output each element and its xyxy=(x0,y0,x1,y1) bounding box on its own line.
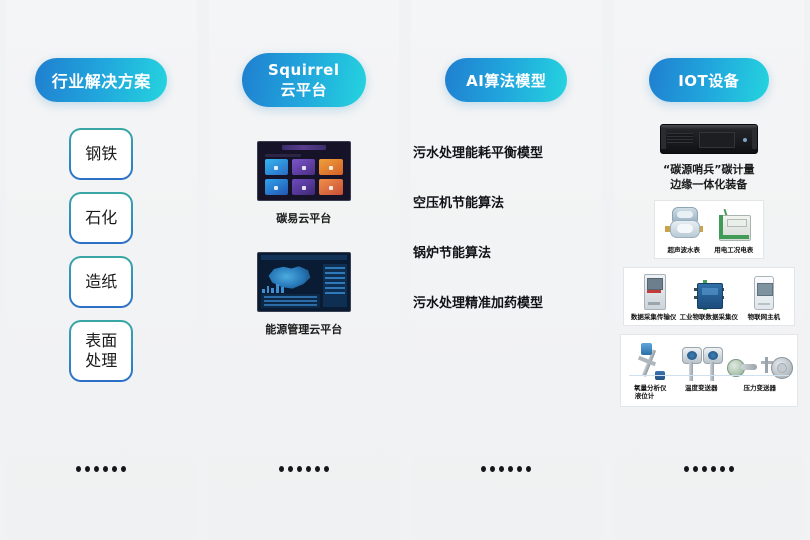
more-dots-ai xyxy=(481,466,531,472)
industry-card-label: 钢铁 xyxy=(85,144,117,164)
header-pill-label-line1: Squirrel xyxy=(268,60,339,80)
industry-card-papermaking[interactable]: 造纸 xyxy=(69,256,133,308)
dot xyxy=(315,466,320,472)
column-ai-algorithms: AI算法模型 污水处理能耗平衡模型 空压机节能算法 锅炉节能算法 污水处理精准加… xyxy=(405,0,608,540)
iot-device-pressure-transmitter[interactable]: 压力变送器 xyxy=(727,355,793,392)
screen-tile xyxy=(292,159,315,175)
iot-device-label-level-gauge: 液位计 xyxy=(635,390,655,400)
column-iot-devices: IOT设备 “碳源哨兵”碳计量 边缘一体化装备 xyxy=(608,0,810,540)
ai-model-list: 污水处理能耗平衡模型 空压机节能算法 锅炉节能算法 污水处理精准加药模型 xyxy=(405,142,608,311)
edge-server-caption: “碳源哨兵”碳计量 边缘一体化装备 xyxy=(663,162,754,192)
dot xyxy=(103,466,108,472)
dot xyxy=(490,466,495,472)
dot xyxy=(499,466,504,472)
dot xyxy=(279,466,284,472)
dot xyxy=(324,466,329,472)
iot-device-label: 物联网主机 xyxy=(748,313,781,321)
screen-tile xyxy=(292,179,315,195)
header-pill-ai-algorithms[interactable]: AI算法模型 xyxy=(445,58,567,102)
edge-server-caption-line2: 边缘一体化装备 xyxy=(663,177,754,192)
screen-bar-chart xyxy=(262,283,284,293)
dot xyxy=(711,466,716,472)
ai-model-item[interactable]: 锅炉节能算法 xyxy=(413,242,491,261)
screen-header-bar xyxy=(261,255,347,260)
ai-model-item[interactable]: 污水处理精准加药模型 xyxy=(413,292,543,311)
header-pill-label: IOT设备 xyxy=(678,70,739,91)
dot xyxy=(702,466,707,472)
dot xyxy=(517,466,522,472)
dot xyxy=(729,466,734,472)
iot-device-label: 温度变送器 xyxy=(685,384,718,392)
iot-device-label: 超声波水表 xyxy=(668,246,701,254)
pressure-transmitter-icon xyxy=(759,355,793,381)
industry-card-label: 造纸 xyxy=(85,272,117,292)
column-industry-solutions: 行业解决方案 钢铁 石化 造纸 表面 处理 xyxy=(0,0,203,540)
screen-side-panel xyxy=(323,264,347,307)
dot xyxy=(693,466,698,472)
iot-device-iot-host[interactable]: 物联网主机 xyxy=(738,276,790,321)
iot-device-temperature-transmitter[interactable]: 温度变送器 xyxy=(676,347,727,392)
ultrasonic-water-meter-icon xyxy=(669,207,699,243)
screen-tile xyxy=(265,179,288,195)
dot xyxy=(288,466,293,472)
header-pill-label-line2: 云平台 xyxy=(280,80,327,100)
dot xyxy=(508,466,513,472)
header-pill-iot-devices[interactable]: IOT设备 xyxy=(649,58,769,102)
industry-card-label-line1: 表面 xyxy=(85,331,117,350)
iot-device-label: 用电工况电表 xyxy=(714,246,753,254)
dot xyxy=(94,466,99,472)
industry-card-petrochemical[interactable]: 石化 xyxy=(69,192,133,244)
industry-card-label: 石化 xyxy=(85,208,117,228)
electric-meter-icon xyxy=(717,209,751,243)
iot-device-oxygen-analyzer[interactable]: 氧量分析仪 xyxy=(625,341,676,392)
screen-subtitle xyxy=(265,154,301,157)
ai-model-item[interactable]: 空压机节能算法 xyxy=(413,192,504,211)
dot xyxy=(112,466,117,472)
platform-caption: 碳易云平台 xyxy=(276,210,331,226)
iot-device-industrial-gateway[interactable]: 工业物联数据采集仪 xyxy=(680,280,739,321)
dot xyxy=(481,466,486,472)
panel-divider xyxy=(629,375,789,376)
platform-screenshot-carbon-easy xyxy=(257,141,351,201)
iot-device-label: 工业物联数据采集仪 xyxy=(680,313,739,321)
solutions-board: 行业解决方案 钢铁 石化 造纸 表面 处理 xyxy=(0,0,810,540)
edge-server-icon xyxy=(660,124,758,154)
dot xyxy=(297,466,302,472)
industry-card-surface-treatment[interactable]: 表面 处理 xyxy=(69,320,133,382)
dot xyxy=(306,466,311,472)
iot-host-icon xyxy=(754,276,774,310)
iot-device-electric-meter[interactable]: 用电工况电表 xyxy=(709,209,759,254)
more-dots-cloud xyxy=(279,466,329,472)
dot xyxy=(76,466,81,472)
industry-card-list: 钢铁 石化 造纸 表面 处理 xyxy=(69,128,133,382)
iot-group-collectors: 数据采集传输仪 工业物联数据采集仪 物联网主机 xyxy=(623,267,795,326)
dot xyxy=(85,466,90,472)
screen-bottom-panel xyxy=(261,294,320,308)
screen-tile xyxy=(265,159,288,175)
platform-caption: 能源管理云平台 xyxy=(265,321,342,337)
dot xyxy=(684,466,689,472)
screen-tile xyxy=(319,159,342,175)
iot-device-data-acquisition[interactable]: 数据采集传输仪 xyxy=(628,274,680,321)
industry-card-steel[interactable]: 钢铁 xyxy=(69,128,133,180)
dot xyxy=(720,466,725,472)
industry-card-label-line2: 处理 xyxy=(85,351,117,370)
more-dots-industry xyxy=(76,466,126,472)
iot-group-instruments: 氧量分析仪 xyxy=(620,334,798,407)
ai-model-item[interactable]: 污水处理能耗平衡模型 xyxy=(413,142,543,161)
platform-carbon-easy[interactable]: 碳易云平台 xyxy=(257,141,351,226)
screen-tile xyxy=(319,179,342,195)
dot xyxy=(121,466,126,472)
header-pill-label: AI算法模型 xyxy=(466,70,546,91)
data-acquisition-cabinet-icon xyxy=(640,274,668,310)
more-dots-iot xyxy=(684,466,734,472)
screen-titlebar xyxy=(282,145,326,150)
iot-group-meters: 超声波水表 用电工况电表 xyxy=(654,200,764,259)
industrial-iot-gateway-icon xyxy=(694,280,724,310)
header-pill-squirrel-cloud[interactable]: Squirrel 云平台 xyxy=(242,53,366,107)
dot xyxy=(526,466,531,472)
iot-device-gallery: “碳源哨兵”碳计量 边缘一体化装备 超声波水表 xyxy=(608,124,810,407)
header-pill-label: 行业解决方案 xyxy=(52,68,151,92)
header-pill-industry-solutions[interactable]: 行业解决方案 xyxy=(35,58,167,102)
edge-server-caption-line1: “碳源哨兵”碳计量 xyxy=(663,162,754,177)
iot-device-label: 数据采集传输仪 xyxy=(631,313,677,321)
screen-tile-grid xyxy=(265,159,343,195)
iot-device-label: 压力变送器 xyxy=(744,384,777,392)
iot-device-ultrasonic-water-meter[interactable]: 超声波水表 xyxy=(659,207,709,254)
column-squirrel-cloud: Squirrel 云平台 碳易云平台 xyxy=(203,0,406,540)
platform-energy-management[interactable]: 能源管理云平台 xyxy=(257,252,351,337)
platform-screenshot-energy-management xyxy=(257,252,351,312)
